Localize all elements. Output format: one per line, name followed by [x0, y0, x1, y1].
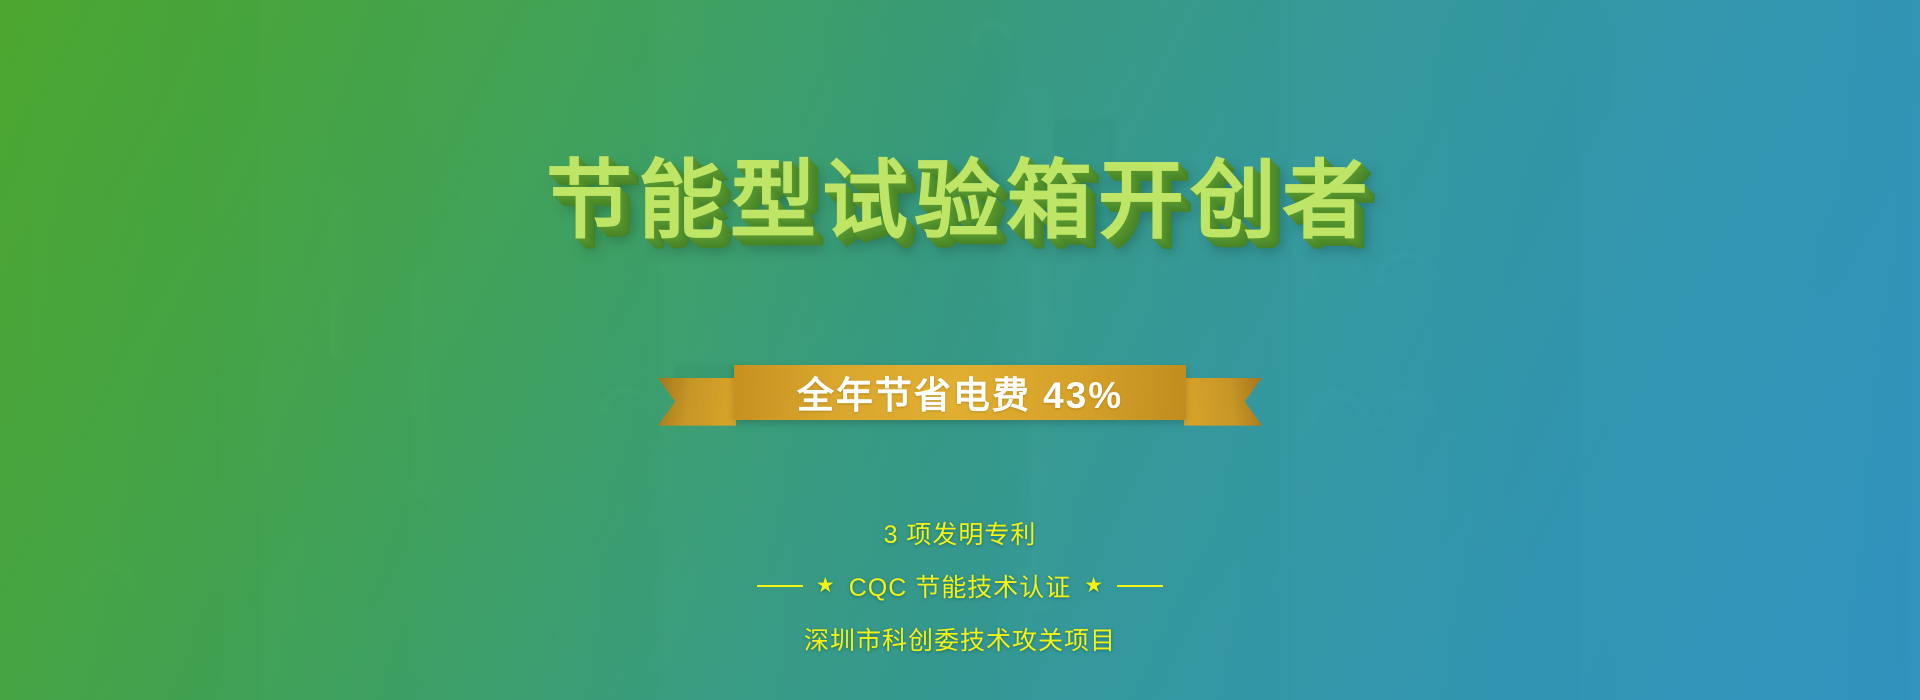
credential-government-project: 深圳市科创委技术攻关项目	[804, 621, 1116, 657]
credential-government-project-label: 深圳市科创委技术攻关项目	[804, 621, 1116, 657]
rule-left-icon	[757, 585, 803, 587]
credential-cqc: ★ CQC 节能技术认证 ★	[757, 568, 1163, 604]
ribbon-tail-left	[658, 378, 736, 426]
hero-banner: 节能型试验箱开创者 全年节省电费 43% 3 项发明专利 ★ CQC 节能技术认…	[0, 0, 1920, 700]
page-title: 节能型试验箱开创者	[546, 158, 1374, 244]
credential-patents-label: 3 项发明专利	[884, 515, 1037, 551]
ribbon-tail-right	[1184, 378, 1262, 426]
ribbon-label: 全年节省电费 43%	[797, 365, 1123, 419]
star-right-icon: ★	[1084, 575, 1104, 596]
credential-cqc-label: CQC 节能技术认证	[849, 568, 1072, 604]
savings-ribbon: 全年节省电费 43%	[670, 365, 1250, 427]
rule-right-icon	[1117, 585, 1163, 587]
ribbon-body: 全年节省电费 43%	[734, 365, 1186, 420]
credentials-list: 3 项发明专利 ★ CQC 节能技术认证 ★ 深圳市科创委技术攻关项目	[757, 515, 1163, 657]
star-left-icon: ★	[816, 575, 836, 596]
banner-content: 节能型试验箱开创者 全年节省电费 43% 3 项发明专利 ★ CQC 节能技术认…	[0, 0, 1920, 700]
credential-patents: 3 项发明专利	[884, 515, 1037, 551]
